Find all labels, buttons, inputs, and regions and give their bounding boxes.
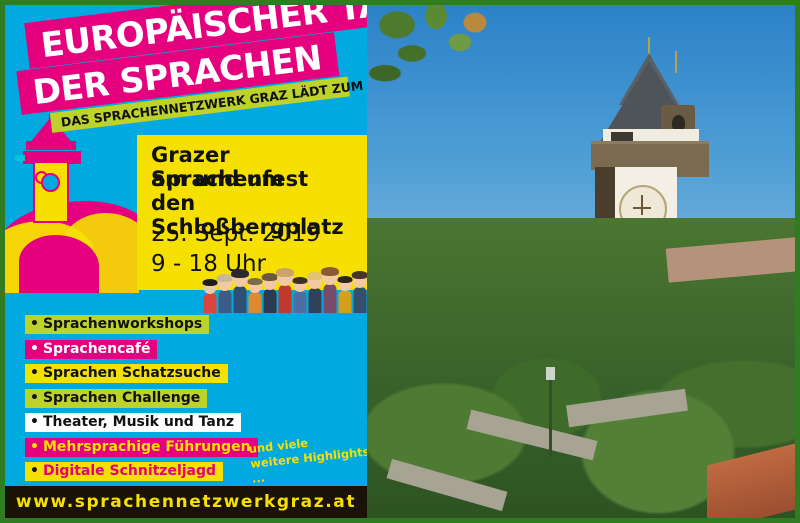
highlight-label: Sprachencafé [43, 341, 151, 357]
highlight-row: •Theater, Musik und Tanz [25, 411, 255, 430]
person-hair [321, 267, 339, 276]
highlight-label: Mehrsprachige Führungen [43, 439, 251, 455]
highlight-row: •Sprachen Challenge [25, 387, 255, 406]
bullet-icon: • [30, 365, 39, 381]
highlight-label: Digitale Schnitzeljagd [43, 463, 216, 479]
highlight-row: •Sprachencafé [25, 338, 255, 357]
person-figure [351, 271, 367, 313]
person-body [218, 290, 231, 314]
poster-left-panel: EUROPÄISCHER TAG DER SPRACHEN DAS SPRACH… [5, 5, 367, 518]
person-body [353, 287, 366, 314]
bullet-icon: • [30, 414, 39, 430]
grazer-uhrturm-schlossberg-photo [367, 5, 795, 518]
highlight-item-0: •Sprachenworkshops [25, 315, 209, 334]
foreground-branch [367, 5, 517, 115]
website-url-text[interactable]: www.sprachennetzwerkgraz.at [5, 486, 367, 518]
person-body [263, 289, 276, 314]
event-title-line2: am und um [151, 167, 283, 191]
event-date: 25. Sept. 2019 [151, 221, 320, 248]
person-hair [202, 279, 217, 286]
person-hair [231, 269, 249, 278]
highlight-item-2: •Sprachen Schatzsuche [25, 364, 228, 383]
highlight-row: •Sprachenworkshops [25, 313, 255, 332]
bullet-icon: • [30, 463, 39, 479]
highlight-item-5: •Mehrsprachige Führungen [25, 438, 258, 457]
person-body [293, 291, 306, 313]
bullet-icon: • [30, 341, 39, 357]
person-body [308, 288, 321, 314]
bullet-icon: • [30, 316, 39, 332]
lamp-post [549, 377, 552, 457]
highlights-list: •Sprachenworkshops•Sprachencafé•Sprachen… [25, 313, 255, 485]
highlight-label: Sprachenworkshops [43, 316, 202, 332]
highlight-item-1: •Sprachencafé [25, 340, 157, 359]
cartoon-people-group [201, 263, 367, 313]
person-body [203, 293, 216, 313]
person-body [248, 292, 261, 313]
highlight-label: Sprachen Challenge [43, 390, 200, 406]
highlight-row: •Mehrsprachige Führungen [25, 436, 255, 455]
highlight-item-3: •Sprachen Challenge [25, 389, 207, 408]
person-body [338, 290, 351, 313]
highlight-item-6: •Digitale Schnitzeljagd [25, 462, 223, 481]
more-highlights-note: und viele weitere Highlights ... [248, 429, 367, 486]
website-url-bar[interactable]: www.sprachennetzwerkgraz.at [5, 486, 367, 518]
highlight-row: •Digitale Schnitzeljagd [25, 460, 255, 479]
highlight-label: Theater, Musik und Tanz [43, 414, 234, 430]
person-hair [351, 271, 367, 279]
highlight-label: Sprachen Schatzsuche [43, 365, 221, 381]
person-body [233, 286, 246, 313]
person-body [323, 284, 336, 313]
poster-root: EUROPÄISCHER TAG DER SPRACHEN DAS SPRACH… [0, 0, 800, 523]
bullet-icon: • [30, 439, 39, 455]
highlight-row: •Sprachen Schatzsuche [25, 362, 255, 381]
highlight-item-4: •Theater, Musik und Tanz [25, 413, 241, 432]
bullet-icon: • [30, 390, 39, 406]
lamp-head-icon [546, 367, 555, 380]
person-body [278, 285, 291, 313]
person-hair [337, 276, 352, 283]
person-hair [276, 268, 294, 277]
person-hair [247, 278, 262, 285]
posterised-uhrturm-illustration [5, 113, 139, 293]
person-hair [292, 277, 307, 284]
